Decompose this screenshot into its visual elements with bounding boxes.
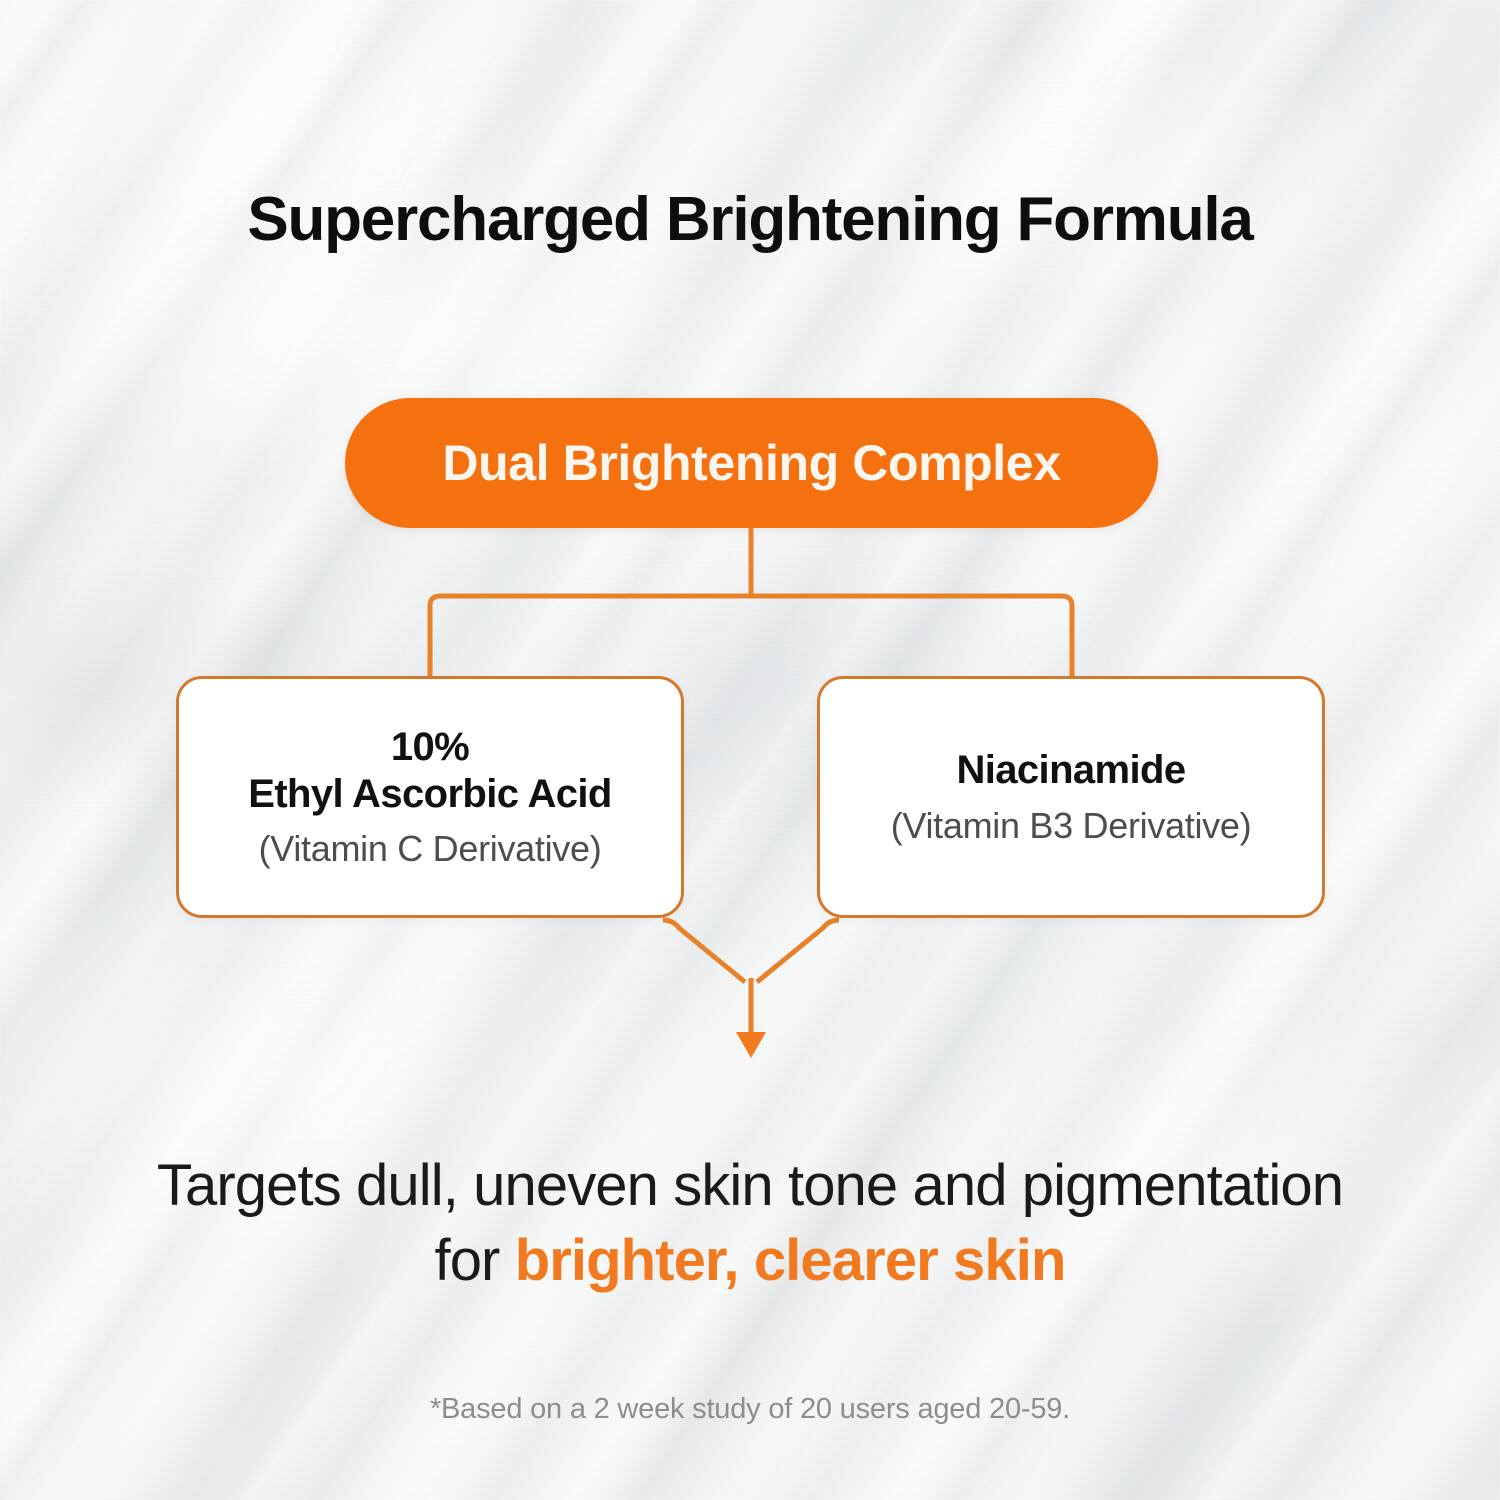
ingredient-name: Niacinamide <box>956 747 1185 794</box>
dual-brightening-complex-label: Dual Brightening Complex <box>442 434 1060 492</box>
dual-brightening-complex-node: Dual Brightening Complex <box>345 398 1158 528</box>
infographic-canvas: Supercharged Brightening Formula Dual Br… <box>0 0 1500 1500</box>
connector-bus <box>430 596 1072 678</box>
ingredient-subtitle: (Vitamin B3 Derivative) <box>891 805 1252 847</box>
ingredient-subtitle: (Vitamin C Derivative) <box>259 828 602 870</box>
ingredient-card-niacinamide: Niacinamide (Vitamin B3 Derivative) <box>817 676 1325 918</box>
ingredient-name: 10% Ethyl Ascorbic Acid <box>248 724 612 818</box>
arrow-down-icon <box>736 1032 766 1058</box>
ingredient-card-ethyl-ascorbic-acid: 10% Ethyl Ascorbic Acid (Vitamin C Deriv… <box>176 676 684 918</box>
infographic-content: Supercharged Brightening Formula Dual Br… <box>0 0 1500 1500</box>
page-title: Supercharged Brightening Formula <box>0 184 1500 255</box>
study-footnote: *Based on a 2 week study of 20 users age… <box>0 1393 1500 1426</box>
benefit-statement-accent: brighter, clearer skin <box>515 1228 1066 1293</box>
benefit-statement: Targets dull, uneven skin tone and pigme… <box>150 1148 1350 1299</box>
connector-diagonal-left <box>663 920 745 982</box>
connector-diagonal-right <box>757 920 839 982</box>
